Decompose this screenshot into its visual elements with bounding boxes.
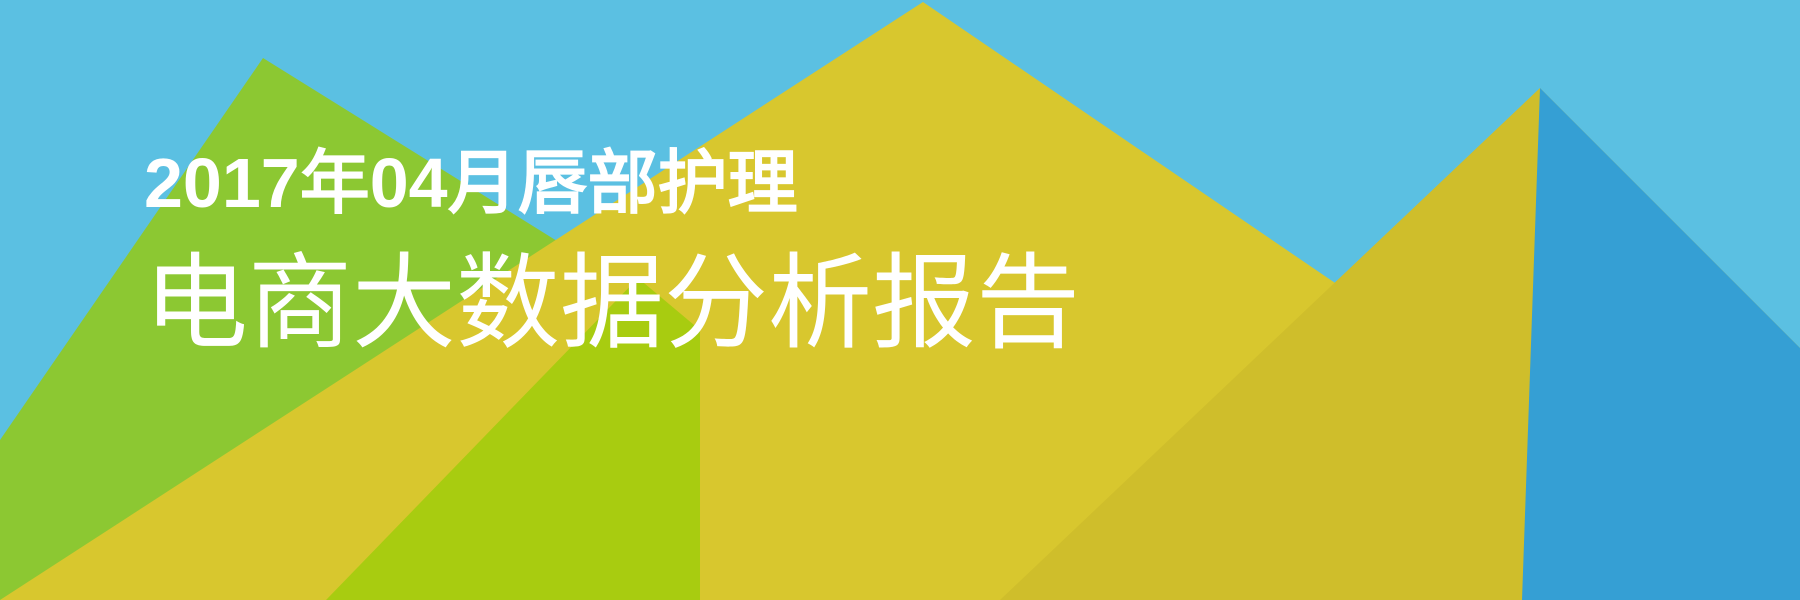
report-cover-banner: 2017年04月唇部护理 电商大数据分析报告: [0, 0, 1800, 600]
geometric-background: [0, 0, 1800, 600]
